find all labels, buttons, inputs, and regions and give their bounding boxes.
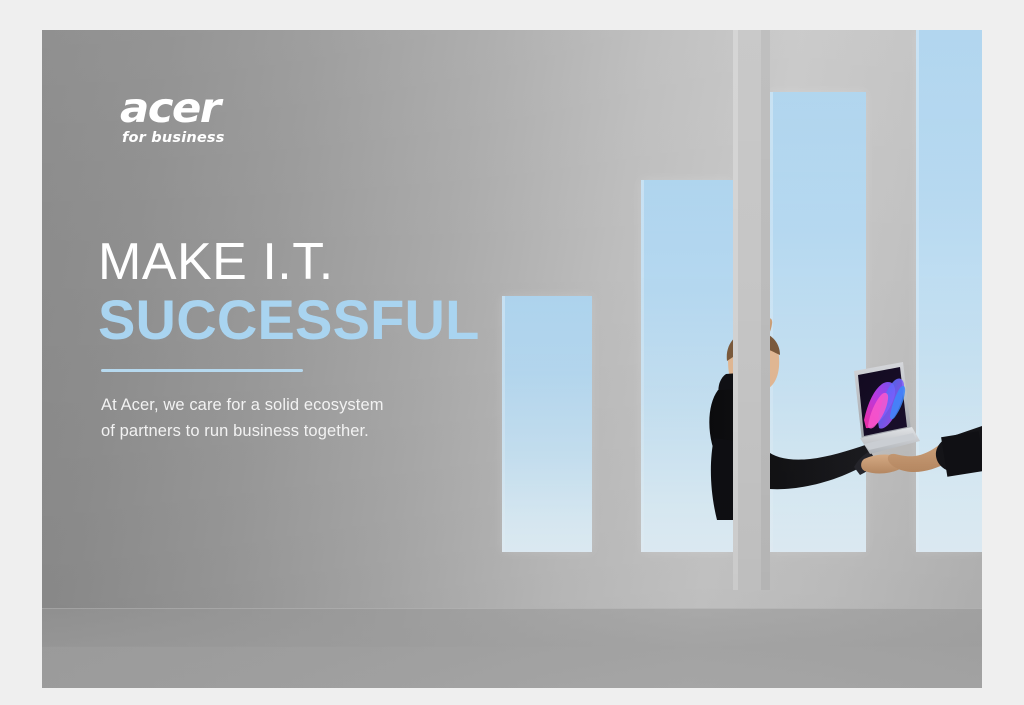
page-canvas: acer for business MAKE I.T. SUCCESSFUL A…: [0, 0, 1024, 705]
chart-bar-2: [641, 180, 733, 552]
headline-block: MAKE I.T. SUCCESSFUL At Acer, we care fo…: [98, 235, 518, 445]
left-person-hand-support: [861, 455, 904, 474]
headline-line-1: MAKE I.T.: [98, 235, 518, 290]
floor-horizon-line: [42, 608, 982, 609]
wall-gap-shade: [761, 30, 770, 590]
left-person-ear: [742, 361, 751, 375]
chart-bar-3: [770, 92, 866, 552]
wall-gap-highlight: [733, 30, 738, 590]
subcopy-line-2: of partners to run business together.: [101, 419, 518, 445]
left-person-hand-grip: [735, 309, 772, 344]
laptop-wallpaper: [864, 379, 905, 429]
headline-line-2: SUCCESSFUL: [98, 291, 518, 350]
acer-logo: acer for business: [120, 88, 280, 146]
laptop-deck: [864, 433, 916, 450]
chart-bar-4: [916, 30, 982, 552]
acer-logo-wordmark: acer: [120, 88, 290, 129]
acer-for-business-banner: acer for business MAKE I.T. SUCCESSFUL A…: [42, 30, 982, 688]
laptop-base: [860, 427, 920, 454]
subcopy-line-1: At Acer, we care for a solid ecosystem: [101, 393, 518, 419]
subcopy-block: At Acer, we care for a solid ecosystem o…: [101, 393, 518, 444]
floor-band: [42, 608, 982, 688]
headline-divider-rule: [101, 369, 303, 372]
wall-gap-strip: [733, 30, 770, 590]
acer-logo-tagline: for business: [122, 130, 280, 146]
